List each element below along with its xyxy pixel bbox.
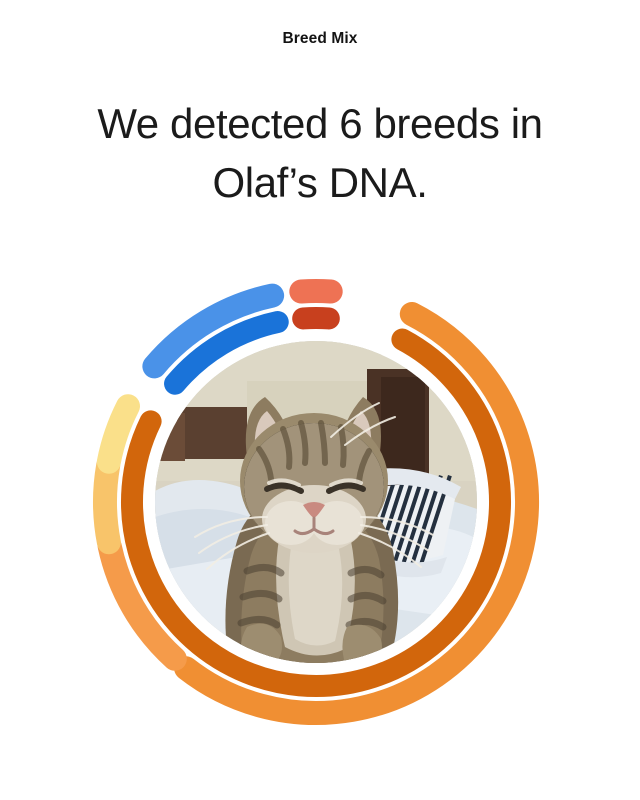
ring-segment-yellow-medium[interactable]: [105, 465, 109, 542]
app-header: Breed Mix: [0, 30, 640, 48]
pet-photo: [155, 341, 477, 663]
ring-segment-red-dot[interactable]: [301, 291, 330, 292]
page-title: Breed Mix: [0, 30, 640, 48]
breed-mix-screen: Breed Mix We detected 6 breeds in Olaf’s…: [0, 0, 640, 800]
pet-avatar[interactable]: [155, 341, 477, 663]
breed-ring-widget[interactable]: [80, 268, 550, 738]
headline-text: We detected 6 breeds in Olaf’s DNA.: [50, 94, 590, 212]
ring-segment-yellow-pale[interactable]: [109, 406, 128, 462]
